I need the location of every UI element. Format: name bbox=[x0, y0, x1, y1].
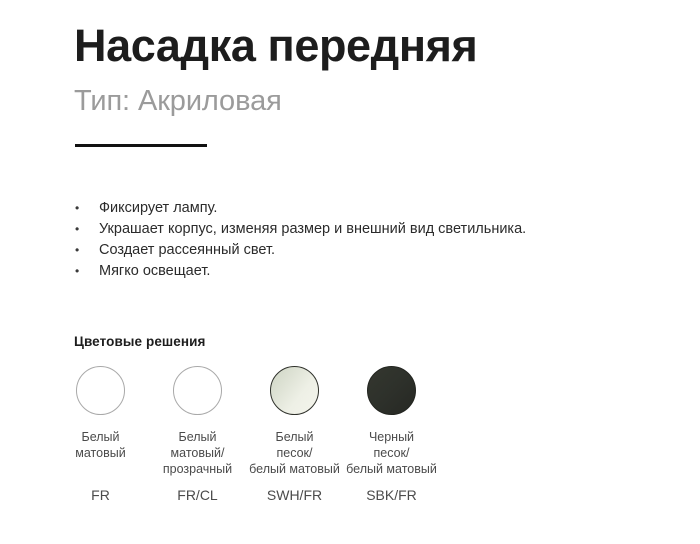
list-item: • Создает рассеянный свет. bbox=[74, 240, 654, 261]
feature-list: • Фиксирует лампу. • Украшает корпус, из… bbox=[74, 198, 654, 282]
color-label-line: песок/ bbox=[276, 446, 312, 460]
color-swatch-label: Белый матовый bbox=[75, 429, 125, 461]
bullet-icon: • bbox=[74, 261, 99, 282]
color-swatch-circle[interactable] bbox=[270, 366, 319, 415]
page-title: Насадка передняя bbox=[74, 22, 477, 70]
color-code: SWH/FR bbox=[246, 486, 343, 504]
list-item: • Украшает корпус, изменяя размер и внеш… bbox=[74, 219, 654, 240]
color-code: SBK/FR bbox=[343, 486, 440, 504]
color-swatch-circle[interactable] bbox=[367, 366, 416, 415]
color-label-line: прозрачный bbox=[163, 462, 232, 476]
color-code-row: FR FR/CL SWH/FR SBK/FR bbox=[52, 486, 488, 504]
color-label-line: Черный bbox=[369, 430, 414, 444]
color-swatch-circle[interactable] bbox=[76, 366, 125, 415]
color-swatch-label: Белый матовый/ прозрачный bbox=[163, 429, 232, 477]
color-options-heading: Цветовые решения bbox=[74, 334, 206, 349]
color-label-line: песок/ bbox=[373, 446, 409, 460]
list-item-label: Украшает корпус, изменяя размер и внешни… bbox=[99, 219, 526, 240]
color-swatch-grid: Белый матовый Белый матовый/ прозрачный … bbox=[52, 366, 488, 477]
color-swatch-circle[interactable] bbox=[173, 366, 222, 415]
product-spec-card: Насадка передняя Тип: Акриловая • Фиксир… bbox=[0, 0, 700, 544]
color-label-line: белый матовый bbox=[346, 462, 437, 476]
color-swatch-option[interactable]: Белый песок/ белый матовый bbox=[246, 366, 343, 477]
color-label-line: Белый bbox=[81, 430, 119, 444]
list-item-label: Фиксирует лампу. bbox=[99, 198, 217, 219]
color-label-line: матовый/ bbox=[171, 446, 225, 460]
color-swatch-option[interactable]: Черный песок/ белый матовый bbox=[343, 366, 440, 477]
list-item: • Мягко освещает. bbox=[74, 261, 654, 282]
color-swatch-option[interactable]: Белый матовый/ прозрачный bbox=[149, 366, 246, 477]
color-label-line: белый матовый bbox=[249, 462, 340, 476]
color-swatch-option[interactable]: Белый матовый bbox=[52, 366, 149, 477]
color-label-line: матовый bbox=[75, 446, 125, 460]
color-code: FR bbox=[52, 486, 149, 504]
color-label-line: Белый bbox=[178, 430, 216, 444]
color-swatch-label: Белый песок/ белый матовый bbox=[249, 429, 340, 477]
list-item: • Фиксирует лампу. bbox=[74, 198, 654, 219]
color-label-line: Белый bbox=[275, 430, 313, 444]
bullet-icon: • bbox=[74, 240, 99, 261]
list-item-label: Создает рассеянный свет. bbox=[99, 240, 275, 261]
color-code: FR/CL bbox=[149, 486, 246, 504]
color-swatch-label: Черный песок/ белый матовый bbox=[346, 429, 437, 477]
list-item-label: Мягко освещает. bbox=[99, 261, 210, 282]
bullet-icon: • bbox=[74, 219, 99, 240]
bullet-icon: • bbox=[74, 198, 99, 219]
title-divider bbox=[75, 144, 207, 147]
product-type-subtitle: Тип: Акриловая bbox=[74, 86, 282, 118]
